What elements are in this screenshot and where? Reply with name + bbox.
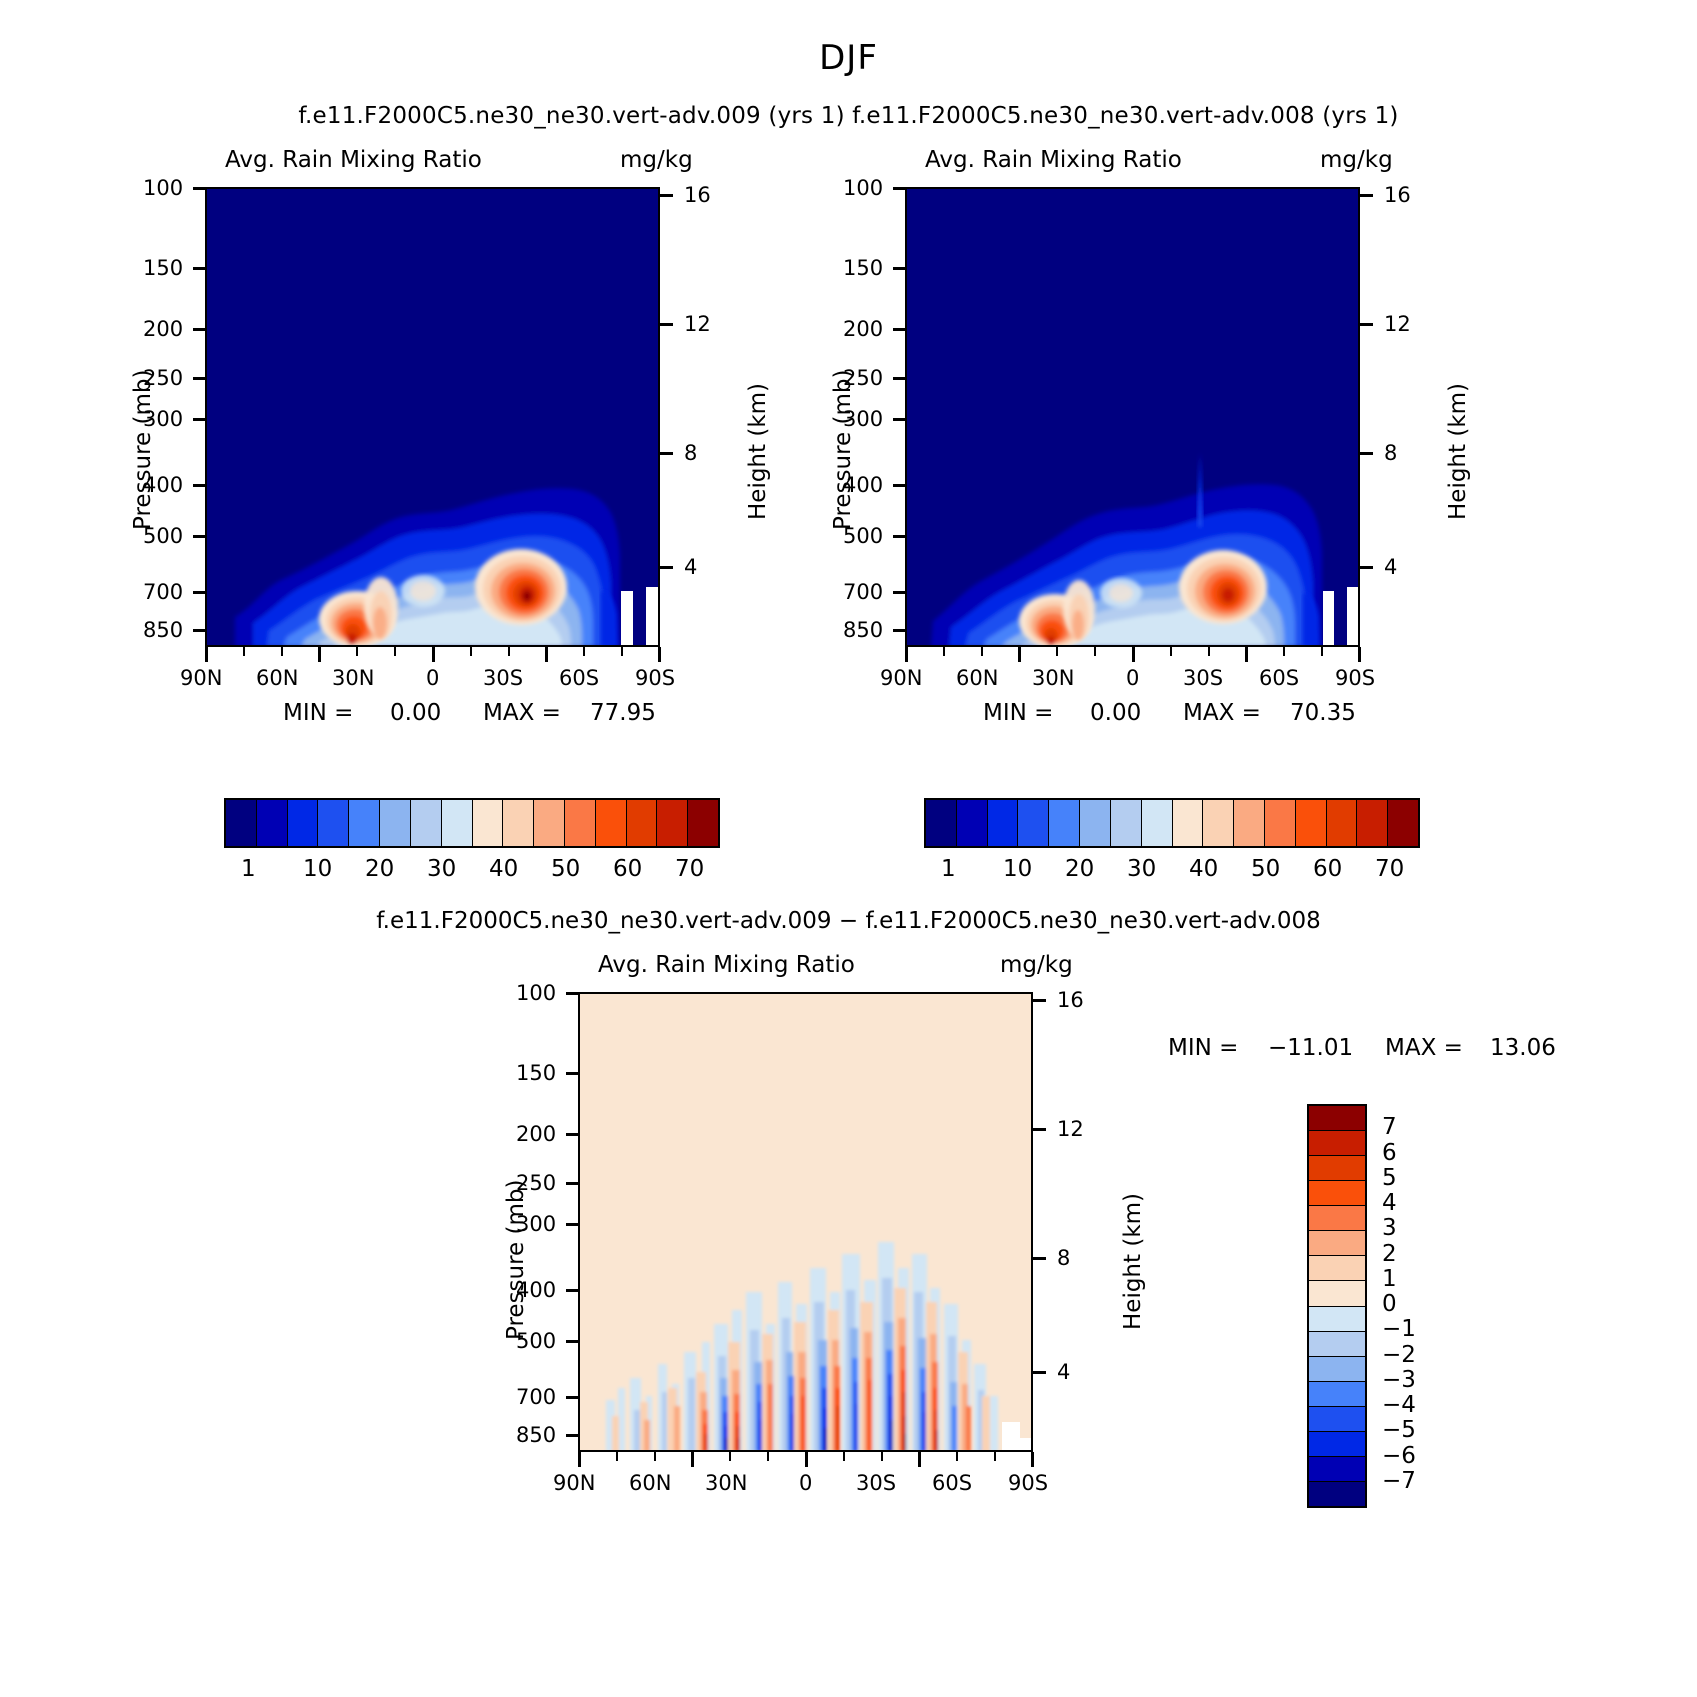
panel-case1-variable-label: Avg. Rain Mixing Ratio (225, 147, 482, 173)
colorbar-tick-label: 20 (1065, 856, 1094, 882)
ytick-500: 500 (516, 1329, 556, 1353)
y2tick-4: 4 (1057, 1360, 1070, 1384)
panel-difference-variable-label: Avg. Rain Mixing Ratio (598, 952, 855, 978)
colorbar-tick-label: 20 (365, 856, 394, 882)
ytick-200: 200 (843, 317, 883, 341)
y2tick-4: 4 (1384, 555, 1397, 579)
colorbar-tick-label: 1 (241, 856, 256, 882)
xtick-0: 0 (799, 1471, 812, 1495)
panel-difference-min-value: −11.01 (1268, 1035, 1353, 1061)
ytick-850: 850 (516, 1423, 556, 1447)
colorbar-swatch[interactable] (1111, 800, 1142, 846)
colorbar-swatch[interactable] (1018, 800, 1049, 846)
ytick-700: 700 (843, 580, 883, 604)
panel-case2-min-value: 0.00 (1090, 700, 1141, 726)
colorbar-tick-label: 10 (303, 856, 332, 882)
panel-case2-colorbar[interactable] (924, 798, 1420, 848)
colorbar-swatch[interactable] (1309, 1106, 1365, 1131)
colorbar-swatch[interactable] (1265, 800, 1296, 846)
colorbar-swatch[interactable] (1173, 800, 1204, 846)
colorbar-tick-label: 40 (489, 856, 518, 882)
colorbar-swatch[interactable] (1309, 1332, 1365, 1357)
colorbar-swatch[interactable] (1309, 1407, 1365, 1432)
colorbar-tick-label: 30 (1127, 856, 1156, 882)
colorbar-swatch[interactable] (926, 800, 957, 846)
panel-case2-ylabel: Pressure (mb) (830, 370, 856, 530)
xtick-30N: 30N (1032, 666, 1074, 690)
colorbar-tick-label: 50 (1251, 856, 1280, 882)
colorbar-swatch[interactable] (257, 800, 288, 846)
colorbar-tick-label: 5 (1382, 1165, 1397, 1191)
colorbar-swatch[interactable] (1388, 800, 1418, 846)
y2tick-16: 16 (684, 183, 711, 207)
colorbar-swatch[interactable] (957, 800, 988, 846)
panel-case2-variable-label: Avg. Rain Mixing Ratio (925, 147, 1182, 173)
colorbar-swatch[interactable] (1309, 1231, 1365, 1256)
colorbar-swatch[interactable] (1309, 1181, 1365, 1206)
ytick-150: 150 (843, 256, 883, 280)
y2tick-4: 4 (684, 555, 697, 579)
xtick-30S: 30S (856, 1471, 896, 1495)
colorbar-swatch[interactable] (688, 800, 718, 846)
panel-difference-ylabel: Pressure (mb) (503, 1180, 529, 1340)
panel-case1-max-label: MAX = (483, 700, 561, 726)
xtick-90N: 90N (880, 666, 922, 690)
panel-case1-units-label: mg/kg (620, 147, 693, 173)
colorbar-tick-label: 10 (1003, 856, 1032, 882)
colorbar-swatch[interactable] (1309, 1432, 1365, 1457)
colorbar-tick-label: 1 (1382, 1266, 1397, 1292)
colorbar-swatch[interactable] (1309, 1382, 1365, 1407)
colorbar-tick-label: 70 (675, 856, 704, 882)
colorbar-swatch[interactable] (473, 800, 504, 846)
ytick-400: 400 (143, 473, 183, 497)
colorbar-tick-label: 60 (613, 856, 642, 882)
xtick-90S: 90S (1008, 1471, 1048, 1495)
panel-difference-max-label: MAX = (1385, 1035, 1463, 1061)
y2tick-12: 12 (1384, 312, 1411, 336)
colorbar-tick-label: −1 (1382, 1316, 1416, 1342)
panel-case2-max-value: 70.35 (1290, 700, 1356, 726)
main-title: DJF (0, 38, 1697, 78)
colorbar-swatch[interactable] (1142, 800, 1173, 846)
colorbar-swatch[interactable] (596, 800, 627, 846)
colorbar-tick-label: 4 (1382, 1190, 1397, 1216)
colorbar-tick-label: 40 (1189, 856, 1218, 882)
ytick-700: 700 (143, 580, 183, 604)
ytick-300: 300 (516, 1212, 556, 1236)
panel-difference-min-label: MIN = (1168, 1035, 1238, 1061)
ytick-250: 250 (843, 366, 883, 390)
panel-case2-units-label: mg/kg (1320, 147, 1393, 173)
colorbar-swatch[interactable] (1309, 1206, 1365, 1231)
colorbar-tick-label: 3 (1382, 1215, 1397, 1241)
y2tick-8: 8 (1057, 1246, 1070, 1270)
colorbar-swatch[interactable] (1234, 800, 1265, 846)
colorbar-swatch[interactable] (1309, 1131, 1365, 1156)
ytick-100: 100 (843, 176, 883, 200)
panel-case2-max-label: MAX = (1183, 700, 1261, 726)
y2tick-16: 16 (1384, 183, 1411, 207)
panel-case1-plot[interactable] (205, 187, 660, 647)
xtick-0: 0 (426, 666, 439, 690)
xtick-60S: 60S (1259, 666, 1299, 690)
panel-difference-plot[interactable] (578, 992, 1033, 1452)
panel-case2-y2label: Height (km) (1445, 383, 1471, 520)
ytick-100: 100 (143, 176, 183, 200)
xtick-0: 0 (1126, 666, 1139, 690)
panel-case2-min-label: MIN = (983, 700, 1053, 726)
xtick-60S: 60S (559, 666, 599, 690)
xtick-30N: 30N (705, 1471, 747, 1495)
ytick-200: 200 (143, 317, 183, 341)
panel-case1-y2label: Height (km) (745, 383, 771, 520)
xtick-60N: 60N (629, 1471, 671, 1495)
panel-titles-line: f.e11.F2000C5.ne30_ne30.vert-adv.009 (yr… (0, 103, 1697, 129)
colorbar-tick-label: 50 (551, 856, 580, 882)
colorbar-tick-label: 0 (1382, 1291, 1397, 1317)
colorbar-swatch[interactable] (411, 800, 442, 846)
colorbar-tick-label: 30 (427, 856, 456, 882)
colorbar-tick-label: 6 (1382, 1140, 1397, 1166)
ytick-300: 300 (843, 407, 883, 431)
colorbar-swatch[interactable] (442, 800, 473, 846)
colorbar-tick-label: 70 (1375, 856, 1404, 882)
colorbar-swatch[interactable] (1309, 1156, 1365, 1181)
colorbar-tick-label: 2 (1382, 1241, 1397, 1267)
ytick-500: 500 (843, 524, 883, 548)
colorbar-swatch[interactable] (1203, 800, 1234, 846)
ytick-150: 150 (516, 1061, 556, 1085)
panel-difference-y2label: Height (km) (1120, 1193, 1146, 1330)
colorbar-tick-label: 60 (1313, 856, 1342, 882)
panel-case2-plot[interactable] (905, 187, 1360, 647)
colorbar-swatch[interactable] (1080, 800, 1111, 846)
colorbar-swatch[interactable] (503, 800, 534, 846)
colorbar-swatch[interactable] (1296, 800, 1327, 846)
colorbar-swatch[interactable] (1309, 1307, 1365, 1332)
colorbar-swatch[interactable] (627, 800, 658, 846)
colorbar-tick-label: 1 (941, 856, 956, 882)
colorbar-swatch[interactable] (534, 800, 565, 846)
colorbar-swatch[interactable] (1327, 800, 1358, 846)
ytick-250: 250 (516, 1171, 556, 1195)
colorbar-tick-label: 7 (1382, 1114, 1397, 1140)
xtick-60S: 60S (932, 1471, 972, 1495)
xtick-60N: 60N (256, 666, 298, 690)
xtick-90S: 90S (1335, 666, 1375, 690)
colorbar-swatch[interactable] (288, 800, 319, 846)
xtick-60N: 60N (956, 666, 998, 690)
y2tick-16: 16 (1057, 988, 1084, 1012)
ytick-850: 850 (843, 618, 883, 642)
colorbar-swatch[interactable] (657, 800, 688, 846)
ytick-150: 150 (143, 256, 183, 280)
panel-case1-min-label: MIN = (283, 700, 353, 726)
colorbar-swatch[interactable] (1309, 1281, 1365, 1306)
ytick-500: 500 (143, 524, 183, 548)
colorbar-tick-label: −4 (1382, 1392, 1416, 1418)
colorbar-swatch[interactable] (565, 800, 596, 846)
colorbar-swatch[interactable] (318, 800, 349, 846)
colorbar-swatch[interactable] (1309, 1256, 1365, 1281)
y2tick-8: 8 (684, 441, 697, 465)
y2tick-8: 8 (1384, 441, 1397, 465)
ytick-200: 200 (516, 1122, 556, 1146)
colorbar-swatch[interactable] (1049, 800, 1080, 846)
ytick-400: 400 (843, 473, 883, 497)
y2tick-12: 12 (684, 312, 711, 336)
ytick-700: 700 (516, 1385, 556, 1409)
xtick-30N: 30N (332, 666, 374, 690)
colorbar-swatch[interactable] (988, 800, 1019, 846)
colorbar-swatch[interactable] (1309, 1457, 1365, 1482)
panel-case1-min-value: 0.00 (390, 700, 441, 726)
colorbar-tick-label: −6 (1382, 1443, 1416, 1469)
ytick-850: 850 (143, 618, 183, 642)
colorbar-swatch[interactable] (1309, 1357, 1365, 1382)
xtick-90N: 90N (180, 666, 222, 690)
y2tick-12: 12 (1057, 1117, 1084, 1141)
ytick-250: 250 (143, 366, 183, 390)
colorbar-tick-label: −2 (1382, 1342, 1416, 1368)
panel-difference-title: f.e11.F2000C5.ne30_ne30.vert-adv.009 − f… (0, 908, 1697, 934)
xtick-90N: 90N (553, 1471, 595, 1495)
colorbar-swatch[interactable] (380, 800, 411, 846)
xtick-90S: 90S (635, 666, 675, 690)
colorbar-tick-label: −5 (1382, 1417, 1416, 1443)
panel-difference-colorbar[interactable] (1307, 1104, 1367, 1508)
panel-difference-max-value: 13.06 (1490, 1035, 1556, 1061)
colorbar-swatch[interactable] (1309, 1482, 1365, 1506)
xtick-30S: 30S (1183, 666, 1223, 690)
panel-case1-colorbar[interactable] (224, 798, 720, 848)
colorbar-tick-label: −3 (1382, 1367, 1416, 1393)
colorbar-swatch[interactable] (1357, 800, 1388, 846)
panel-case1-max-value: 77.95 (590, 700, 656, 726)
colorbar-swatch[interactable] (349, 800, 380, 846)
ytick-400: 400 (516, 1278, 556, 1302)
colorbar-swatch[interactable] (226, 800, 257, 846)
ytick-100: 100 (516, 981, 556, 1005)
colorbar-tick-label: −7 (1382, 1468, 1416, 1494)
panel-case1-ylabel: Pressure (mb) (130, 370, 156, 530)
xtick-30S: 30S (483, 666, 523, 690)
panel-difference-units-label: mg/kg (1000, 952, 1073, 978)
ytick-300: 300 (143, 407, 183, 431)
